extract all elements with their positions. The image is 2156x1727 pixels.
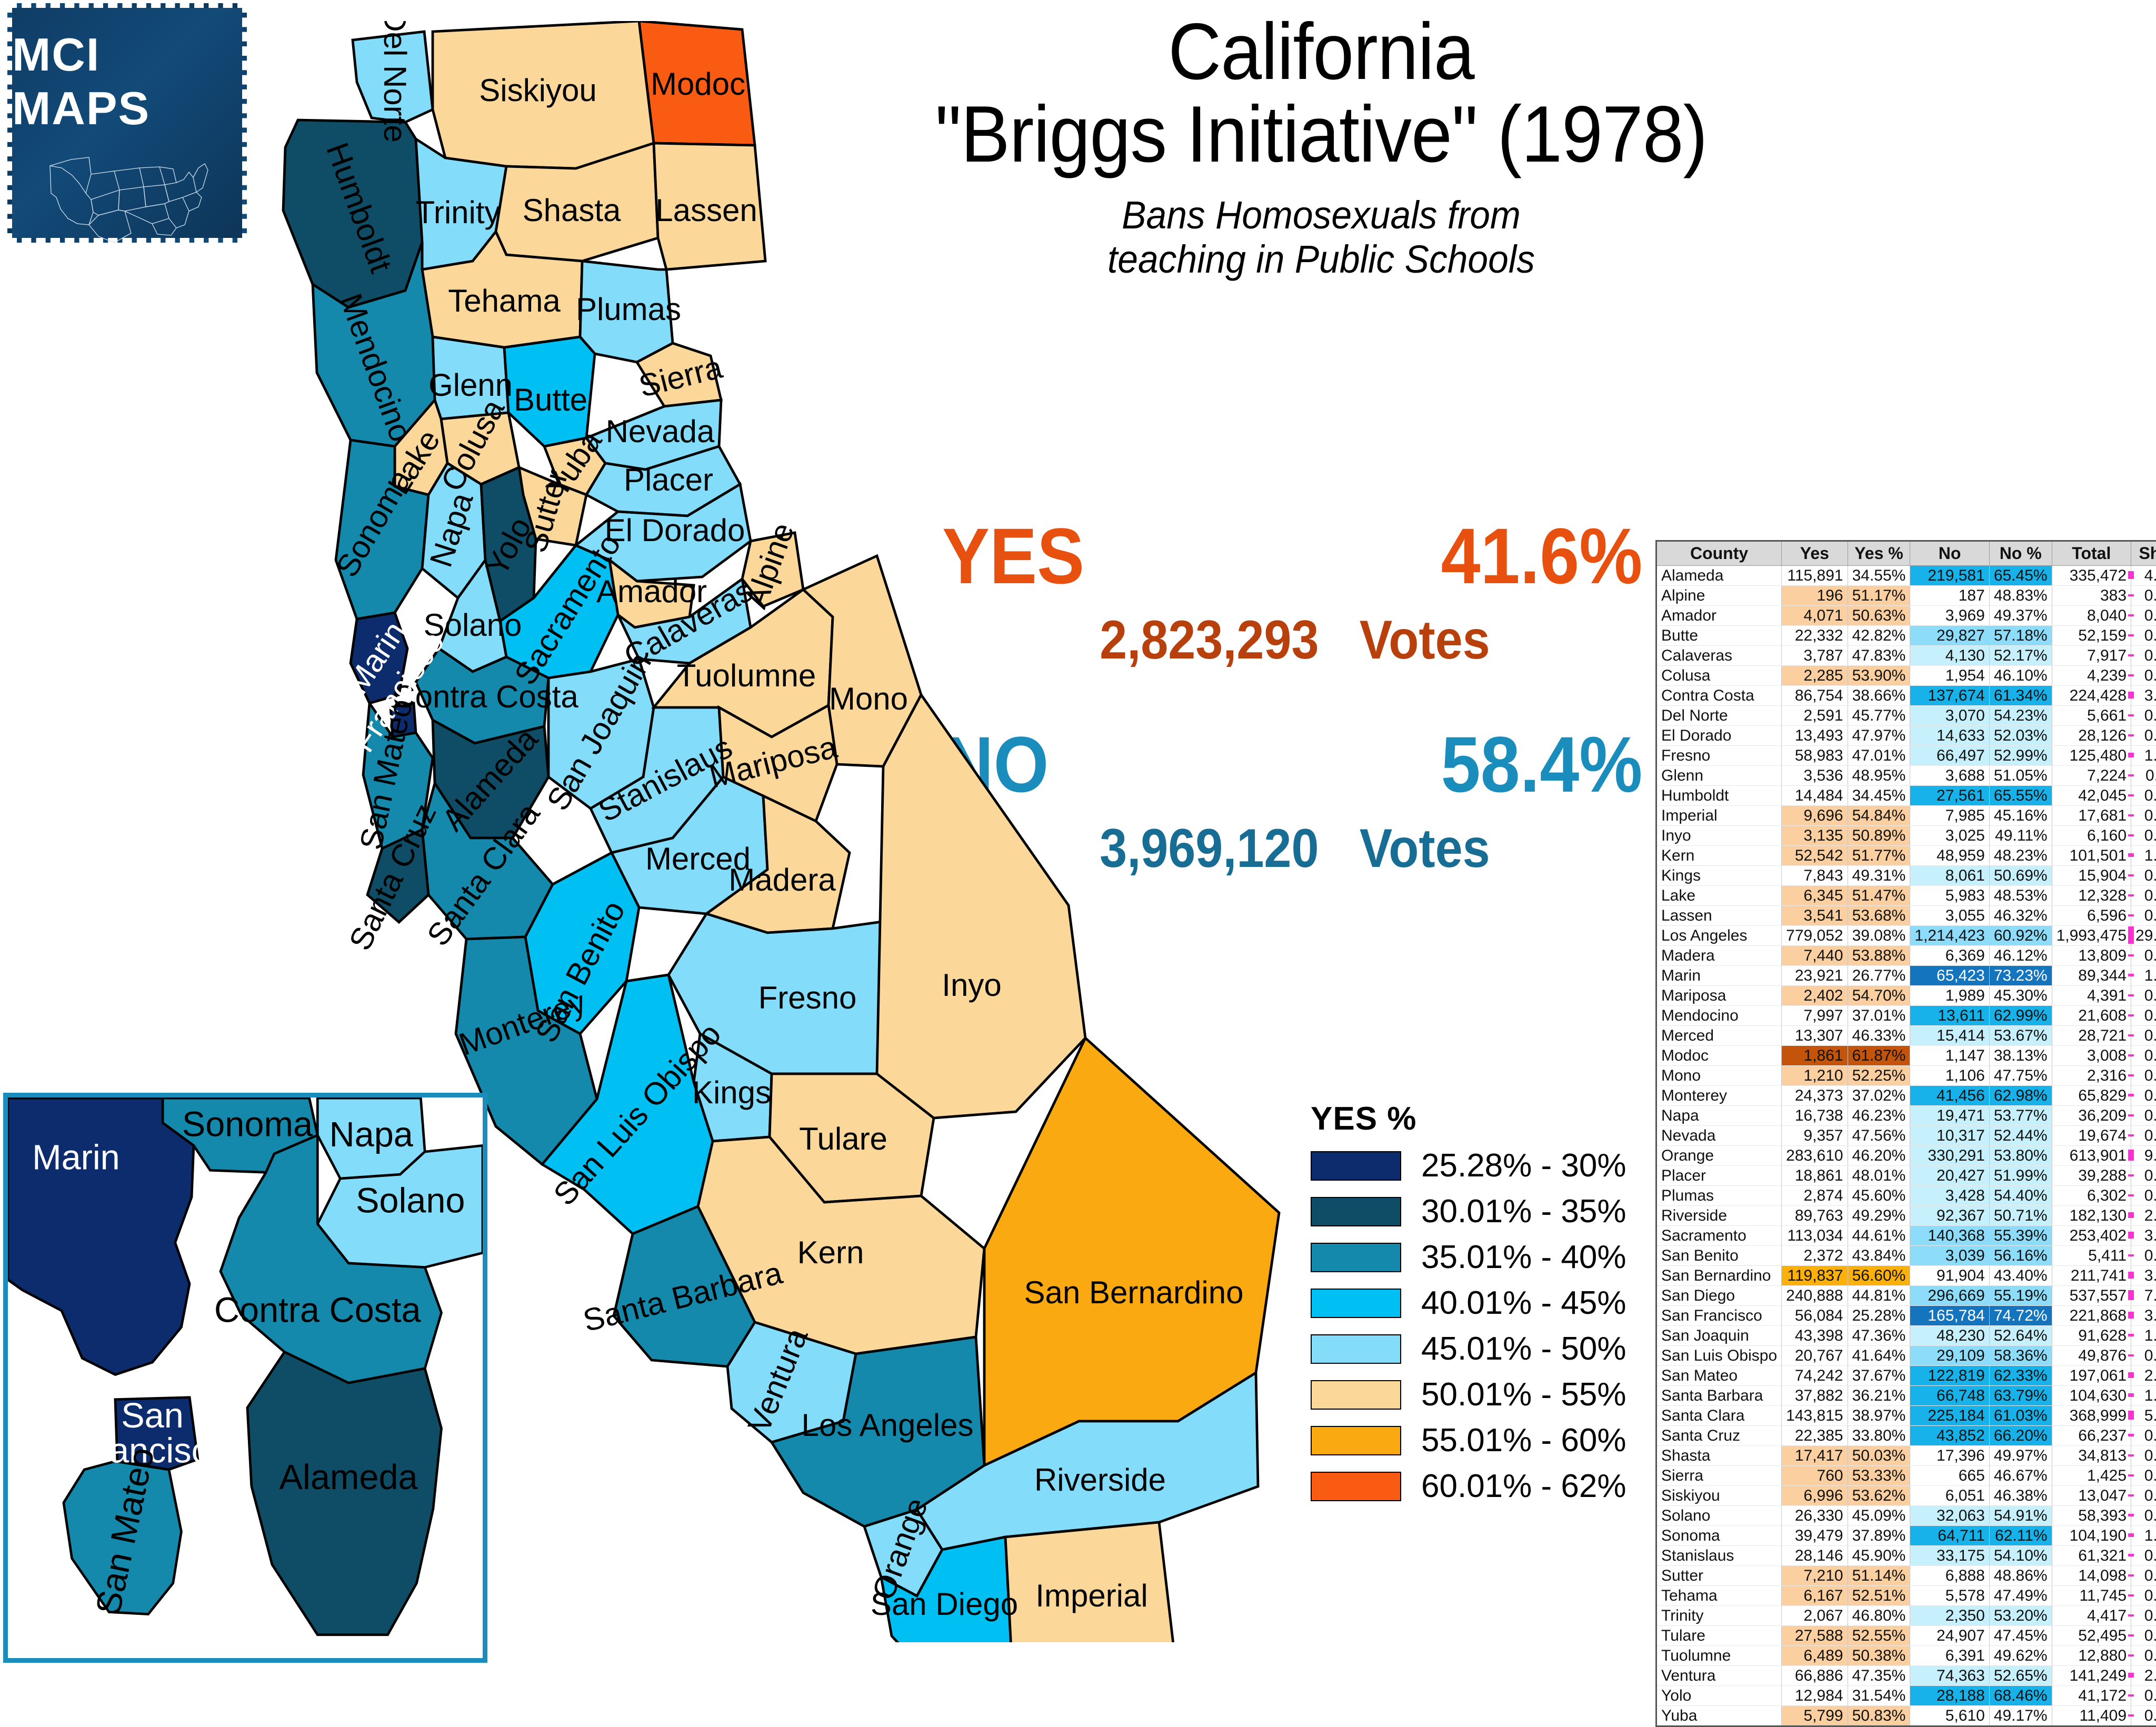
cell-num: 3,688: [1910, 766, 1989, 786]
cell-num: 43,852: [1910, 1426, 1989, 1446]
cell-pct: 47.45%: [1989, 1626, 2052, 1646]
cell-pct: 45.77%: [1848, 706, 1910, 726]
cell-num: 6,996: [1782, 1486, 1848, 1506]
cell-share: 0.12%: [2131, 646, 2156, 666]
cell-pct: 56.16%: [1989, 1246, 2052, 1266]
cell-tot: 12,880: [2052, 1646, 2131, 1666]
no-percent: 58.4%: [1441, 719, 1642, 810]
cell-num: 24,907: [1910, 1626, 1989, 1646]
cell-tot: 65,829: [2052, 1086, 2131, 1106]
cell-pct: 46.12%: [1989, 946, 2052, 966]
table-row: Colusa2,28553.90%1,95446.10%4,2390.06%: [1656, 666, 2156, 686]
share-bar: [2128, 1334, 2134, 1337]
table-row: Stanislaus28,14645.90%33,17554.10%61,321…: [1656, 1546, 2156, 1566]
cell-share: 0.86%: [2131, 1506, 2156, 1526]
legend-item-2: 35.01% - 40%: [1311, 1239, 1626, 1276]
county-inyo: [877, 695, 1085, 1118]
cell-num: 7,210: [1782, 1566, 1848, 1586]
cell-pct: 53.68%: [1848, 906, 1910, 926]
county-label-san-bernardino: San Bernardino: [1024, 1275, 1244, 1310]
county-label-inyo: Inyo: [942, 967, 1001, 1003]
cell-share: 0.41%: [2131, 726, 2156, 746]
share-bar: [2128, 1194, 2134, 1196]
cell-pct: 34.45%: [1848, 786, 1910, 806]
cell-pct: 26.77%: [1848, 966, 1910, 986]
cell-num: 66,497: [1910, 746, 1989, 766]
cell-pct: 62.99%: [1989, 1006, 2052, 1026]
share-bar: [2128, 1254, 2134, 1256]
cell-pct: 56.60%: [1848, 1266, 1910, 1286]
cell-num: 52,542: [1782, 846, 1848, 866]
cell-share: 0.20%: [2131, 946, 2156, 966]
cell-pct: 52.55%: [1848, 1626, 1910, 1646]
cell-num: 296,669: [1910, 1286, 1989, 1306]
cell-num: 7,997: [1782, 1006, 1848, 1026]
cell-cty-name: Contra Costa: [1656, 686, 1782, 706]
table-row: Ventura66,88647.35%74,36352.65%141,2492.…: [1656, 1666, 2156, 1686]
cell-num: 4,071: [1782, 606, 1848, 626]
cell-share: 0.17%: [2131, 1586, 2156, 1606]
table-row: Santa Barbara37,88236.21%66,74863.79%104…: [1656, 1386, 2156, 1406]
table-row: Del Norte2,59145.77%3,07054.23%5,6610.08…: [1656, 706, 2156, 726]
cell-pct: 52.51%: [1848, 1586, 1910, 1606]
cell-tot: 1,993,475: [2052, 926, 2131, 946]
cell-pct: 49.11%: [1989, 826, 2052, 846]
cell-num: 1,147: [1910, 1046, 1989, 1066]
cell-tot: 42,045: [2052, 786, 2131, 806]
share-bar: [2128, 1393, 2134, 1397]
legend-swatch-4: [1311, 1334, 1401, 1364]
cell-pct: 49.97%: [1989, 1446, 2052, 1466]
cell-pct: 48.01%: [1848, 1166, 1910, 1186]
cell-num: 1,954: [1910, 666, 1989, 686]
legend-item-1: 30.01% - 35%: [1311, 1193, 1626, 1230]
table-row: Amador4,07150.63%3,96949.37%8,0400.12%: [1656, 606, 2156, 626]
table-row: Inyo3,13550.89%3,02549.11%6,1600.09%: [1656, 826, 2156, 846]
cell-share: 0.06%: [2131, 986, 2156, 1006]
cell-num: 196: [1782, 586, 1848, 606]
cell-pct: 54.10%: [1989, 1546, 2052, 1566]
cell-cty-name: Madera: [1656, 946, 1782, 966]
col-header-no: No %: [1989, 541, 2052, 566]
cell-num: 283,610: [1782, 1146, 1848, 1166]
table-row: Monterey24,37337.02%41,45662.98%65,8290.…: [1656, 1086, 2156, 1106]
cell-pct: 43.84%: [1848, 1246, 1910, 1266]
cell-num: 1,861: [1782, 1046, 1848, 1066]
table-row: Madera7,44053.88%6,36946.12%13,8090.20%: [1656, 946, 2156, 966]
cell-cty-name: Mono: [1656, 1066, 1782, 1086]
cell-pct: 44.81%: [1848, 1286, 1910, 1306]
cell-num: 22,332: [1782, 626, 1848, 646]
cell-tot: 13,047: [2052, 1486, 2131, 1506]
cell-tot: 335,472: [2052, 566, 2131, 586]
cell-cty-name: Fresno: [1656, 746, 1782, 766]
cell-tot: 36,209: [2052, 1106, 2131, 1126]
cell-num: 20,767: [1782, 1346, 1848, 1366]
table-row: Santa Cruz22,38533.80%43,85266.20%66,237…: [1656, 1426, 2156, 1446]
cell-share: 0.09%: [2131, 826, 2156, 846]
cell-pct: 47.35%: [1848, 1666, 1910, 1686]
cell-pct: 74.72%: [1989, 1306, 2052, 1326]
cell-share: 0.12%: [2131, 606, 2156, 626]
county-label-placer: Placer: [624, 462, 713, 497]
cell-num: 2,067: [1782, 1606, 1848, 1626]
cell-num: 22,385: [1782, 1426, 1848, 1446]
cell-tot: 52,495: [2052, 1626, 2131, 1646]
legend-label-4: 45.01% - 50%: [1421, 1330, 1626, 1367]
cell-pct: 54.40%: [1989, 1186, 2052, 1206]
cell-tot: 383: [2052, 586, 2131, 606]
legend-label-1: 30.01% - 35%: [1421, 1193, 1626, 1230]
cell-share: 0.06%: [2131, 666, 2156, 686]
table-row: Tehama6,16752.51%5,57847.49%11,7450.17%: [1656, 1586, 2156, 1606]
logo-title: MCI MAPS: [12, 28, 242, 135]
cell-num: 24,373: [1782, 1086, 1848, 1106]
cell-pct: 53.33%: [1848, 1466, 1910, 1486]
cell-cty-name: Amador: [1656, 606, 1782, 626]
county-label-los-angeles: Los Angeles: [802, 1407, 974, 1443]
cell-pct: 46.10%: [1989, 666, 2052, 686]
table-row: Solano26,33045.09%32,06354.91%58,3930.86…: [1656, 1506, 2156, 1526]
cell-pct: 48.23%: [1989, 846, 2052, 866]
cell-num: 27,561: [1910, 786, 1989, 806]
cell-num: 6,369: [1910, 946, 1989, 966]
cell-pct: 45.09%: [1848, 1506, 1910, 1526]
table-row: Butte22,33242.82%29,82757.18%52,1590.77%: [1656, 626, 2156, 646]
cell-num: 29,109: [1910, 1346, 1989, 1366]
legend-label-2: 35.01% - 40%: [1421, 1239, 1626, 1276]
cell-cty-name: Alameda: [1656, 566, 1782, 586]
cell-pct: 65.55%: [1989, 786, 2052, 806]
cell-num: 37,882: [1782, 1386, 1848, 1406]
table-header-row: CountyYesYes %NoNo %TotalShare: [1656, 541, 2156, 566]
table-row: Marin23,92126.77%65,42373.23%89,3441.32%: [1656, 966, 2156, 986]
cell-tot: 197,061: [2052, 1366, 2131, 1386]
cell-pct: 63.79%: [1989, 1386, 2052, 1406]
legend-label-5: 50.01% - 55%: [1421, 1376, 1626, 1413]
county-label-glenn: Glenn: [428, 367, 513, 403]
cell-num: 3,428: [1910, 1186, 1989, 1206]
county-label-lassen: Lassen: [655, 193, 757, 228]
cell-share: 0.19%: [2131, 1486, 2156, 1506]
cell-share: 0.21%: [2131, 1566, 2156, 1586]
cell-num: 48,230: [1910, 1326, 1989, 1346]
county-label-mono: Mono: [829, 681, 908, 716]
cell-pct: 31.54%: [1848, 1686, 1910, 1706]
cell-tot: 58,393: [2052, 1506, 2131, 1526]
cell-num: 91,904: [1910, 1266, 1989, 1286]
cell-pct: 43.40%: [1989, 1266, 2052, 1286]
cell-share: 1.53%: [2131, 1526, 2156, 1546]
share-bar: [2128, 654, 2134, 656]
legend-item-7: 60.01% - 62%: [1311, 1468, 1626, 1505]
cell-pct: 52.03%: [1989, 726, 2052, 746]
cell-num: 3,541: [1782, 906, 1848, 926]
cell-num: 74,242: [1782, 1366, 1848, 1386]
cell-num: 5,983: [1910, 886, 1989, 906]
cell-pct: 50.83%: [1848, 1706, 1910, 1726]
legend-label-3: 40.01% - 45%: [1421, 1284, 1626, 1322]
col-header-county: County: [1656, 541, 1782, 566]
cell-pct: 52.64%: [1989, 1326, 2052, 1346]
cell-num: 10,317: [1910, 1126, 1989, 1146]
table-row: Kings7,84349.31%8,06150.69%15,9040.23%: [1656, 866, 2156, 886]
share-bar: [2128, 994, 2134, 996]
cell-tot: 6,160: [2052, 826, 2131, 846]
share-bar: [2128, 1014, 2134, 1016]
legend-swatch-0: [1311, 1151, 1401, 1181]
cell-pct: 53.90%: [1848, 666, 1910, 686]
cell-share: 0.53%: [2131, 1106, 2156, 1126]
cell-num: 8,061: [1910, 866, 1989, 886]
cell-share: 0.11%: [2131, 766, 2156, 786]
cell-tot: 49,876: [2052, 1346, 2131, 1366]
legend-item-0: 25.28% - 30%: [1311, 1147, 1626, 1184]
share-bar: [2128, 1474, 2134, 1476]
cell-pct: 46.67%: [1989, 1466, 2052, 1486]
cell-pct: 53.80%: [1989, 1146, 2052, 1166]
cell-pct: 48.95%: [1848, 766, 1910, 786]
cell-cty-name: Riverside: [1656, 1206, 1782, 1226]
cell-cty-name: Plumas: [1656, 1186, 1782, 1206]
county-label-trinity: Trinity: [415, 195, 500, 230]
table-row: Siskiyou6,99653.62%6,05146.38%13,0470.19…: [1656, 1486, 2156, 1506]
table-row: Lassen3,54153.68%3,05546.32%6,5960.10%: [1656, 906, 2156, 926]
cell-num: 2,372: [1782, 1246, 1848, 1266]
table-row: Plumas2,87445.60%3,42854.40%6,3020.09%: [1656, 1186, 2156, 1206]
table-row: Mendocino7,99737.01%13,61162.99%21,6080.…: [1656, 1006, 2156, 1026]
table-row: Humboldt14,48434.45%27,56165.55%42,0450.…: [1656, 786, 2156, 806]
legend-label-0: 25.28% - 30%: [1421, 1147, 1626, 1184]
share-bar: [2128, 954, 2134, 956]
share-bar: [2128, 1290, 2134, 1300]
share-bar: [2128, 1094, 2134, 1096]
cell-pct: 50.69%: [1989, 866, 2052, 886]
cell-cty-name: Kings: [1656, 866, 1782, 886]
cell-share: 0.62%: [2131, 786, 2156, 806]
share-bar: [2128, 1454, 2134, 1456]
no-votes-word: Votes: [1359, 817, 1490, 880]
cell-num: 1,214,423: [1910, 926, 1989, 946]
cell-share: 1.85%: [2131, 746, 2156, 766]
cell-tot: 61,321: [2052, 1546, 2131, 1566]
cell-num: 58,983: [1782, 746, 1848, 766]
cell-tot: 11,745: [2052, 1586, 2131, 1606]
cell-share: 1.49%: [2131, 846, 2156, 866]
table-row: Merced13,30746.33%15,41453.67%28,7210.42…: [1656, 1026, 2156, 1046]
cell-cty-name: Alpine: [1656, 586, 1782, 606]
us-map-outline-icon: [41, 145, 214, 253]
cell-num: 9,696: [1782, 806, 1848, 826]
cell-tot: 104,190: [2052, 1526, 2131, 1546]
cell-num: 4,130: [1910, 646, 1989, 666]
share-bar: [2128, 914, 2134, 916]
table-row: Los Angeles779,05239.08%1,214,42360.92%1…: [1656, 926, 2156, 946]
share-bar: [2128, 634, 2134, 636]
cell-num: 140,368: [1910, 1226, 1989, 1246]
cell-num: 74,363: [1910, 1666, 1989, 1686]
county-label-fresno: Fresno: [758, 980, 857, 1015]
cell-tot: 253,402: [2052, 1226, 2131, 1246]
cell-cty-name: Tuolumne: [1656, 1646, 1782, 1666]
cell-num: 6,167: [1782, 1586, 1848, 1606]
cell-share: 2.08%: [2131, 1666, 2156, 1686]
table-row: Trinity2,06746.80%2,35053.20%4,4170.07%: [1656, 1606, 2156, 1626]
table-body: Alameda115,89134.55%219,58165.45%335,472…: [1656, 566, 2156, 1726]
cell-pct: 50.71%: [1989, 1206, 2052, 1226]
cell-num: 66,886: [1782, 1666, 1848, 1686]
cell-num: 225,184: [1910, 1406, 1989, 1426]
cell-cty-name: Mariposa: [1656, 986, 1782, 1006]
legend-swatch-7: [1311, 1472, 1401, 1501]
cell-num: 28,188: [1910, 1686, 1989, 1706]
cell-share: 0.77%: [2131, 626, 2156, 646]
cell-pct: 52.65%: [1989, 1666, 2052, 1686]
table-row: San Diego240,88844.81%296,66955.19%537,5…: [1656, 1286, 2156, 1306]
cell-cty-name: Santa Cruz: [1656, 1426, 1782, 1446]
cell-num: 6,345: [1782, 886, 1848, 906]
share-bar: [2128, 894, 2134, 896]
cell-num: 27,588: [1782, 1626, 1848, 1646]
col-header-yes: Yes: [1782, 541, 1848, 566]
cell-pct: 45.16%: [1989, 806, 2052, 826]
cell-pct: 73.23%: [1989, 966, 2052, 986]
county-label-madera: Madera: [728, 862, 836, 897]
logo-url: { www.mcimaps.com }: [36, 260, 219, 279]
cell-pct: 65.45%: [1989, 566, 2052, 586]
share-bar: [2128, 1372, 2134, 1379]
cell-cty-name: Trinity: [1656, 1606, 1782, 1626]
cell-tot: 91,628: [2052, 1326, 2131, 1346]
share-bar: [2128, 1174, 2134, 1176]
cell-tot: 3,008: [2052, 1046, 2131, 1066]
cell-cty-name: Santa Clara: [1656, 1406, 1782, 1426]
cell-share: 0.04%: [2131, 1046, 2156, 1066]
legend-swatch-5: [1311, 1380, 1401, 1410]
inset-county-label-marin: Marin: [32, 1138, 120, 1177]
cell-cty-name: Marin: [1656, 966, 1782, 986]
share-bar: [2128, 674, 2134, 676]
cell-share: 3.12%: [2131, 1266, 2156, 1286]
mci-maps-logo: MCI MAPS { www.mcimaps.c: [7, 3, 247, 243]
cell-num: 26,330: [1782, 1506, 1848, 1526]
cell-pct: 47.56%: [1848, 1126, 1910, 1146]
cell-share: 0.90%: [2131, 1546, 2156, 1566]
cell-pct: 54.23%: [1989, 706, 2052, 726]
table-row: Fresno58,98347.01%66,49752.99%125,4801.8…: [1656, 746, 2156, 766]
cell-num: 330,291: [1910, 1146, 1989, 1166]
cell-pct: 52.99%: [1989, 746, 2052, 766]
table-row: Riverside89,76349.29%92,36750.71%182,130…: [1656, 1206, 2156, 1226]
share-bar: [2128, 794, 2134, 796]
share-bar: [2128, 1134, 2134, 1136]
cell-pct: 50.03%: [1848, 1446, 1910, 1466]
cell-share: 0.07%: [2131, 1606, 2156, 1626]
cell-pct: 37.02%: [1848, 1086, 1910, 1106]
table-row: Kern52,54251.77%48,95948.23%101,5011.49%: [1656, 846, 2156, 866]
county-label-tuolumne: Tuolumne: [677, 658, 816, 693]
cell-pct: 47.83%: [1848, 646, 1910, 666]
cell-num: 3,969: [1910, 606, 1989, 626]
cell-num: 6,051: [1910, 1486, 1989, 1506]
share-bar: [2128, 1654, 2134, 1656]
cell-pct: 47.36%: [1848, 1326, 1910, 1346]
cell-num: 13,307: [1782, 1026, 1848, 1046]
cell-tot: 4,417: [2052, 1606, 2131, 1626]
cell-num: 5,799: [1782, 1706, 1848, 1726]
cell-num: 56,084: [1782, 1306, 1848, 1326]
col-header-share: Share: [2131, 541, 2156, 566]
cell-num: 43,398: [1782, 1326, 1848, 1346]
cell-cty-name: Del Norte: [1656, 706, 1782, 726]
county-label-plumas: Plumas: [576, 292, 681, 327]
table-row: Sacramento113,03444.61%140,36855.39%253,…: [1656, 1226, 2156, 1246]
legend-item-3: 40.01% - 45%: [1311, 1284, 1626, 1322]
cell-tot: 39,288: [2052, 1166, 2131, 1186]
cell-cty-name: Solano: [1656, 1506, 1782, 1526]
cell-tot: 5,411: [2052, 1246, 2131, 1266]
cell-pct: 57.18%: [1989, 626, 2052, 646]
county-label-nevada: Nevada: [606, 414, 715, 449]
cell-pct: 53.67%: [1989, 1026, 2052, 1046]
table-row: San Luis Obispo20,76741.64%29,10958.36%4…: [1656, 1346, 2156, 1366]
cell-pct: 68.46%: [1989, 1686, 2052, 1706]
cell-pct: 55.19%: [1989, 1286, 2052, 1306]
cell-pct: 39.08%: [1848, 926, 1910, 946]
cell-num: 7,985: [1910, 806, 1989, 826]
cell-tot: 17,681: [2052, 806, 2131, 826]
cell-pct: 61.87%: [1848, 1046, 1910, 1066]
cell-pct: 47.01%: [1848, 746, 1910, 766]
cell-share: 0.29%: [2131, 1126, 2156, 1146]
cell-share: 0.97%: [2131, 1086, 2156, 1106]
cell-tot: 28,721: [2052, 1026, 2131, 1046]
cell-num: 16,738: [1782, 1106, 1848, 1126]
cell-cty-name: Stanislaus: [1656, 1546, 1782, 1566]
legend-item-6: 55.01% - 60%: [1311, 1422, 1626, 1459]
share-bar: [2128, 853, 2134, 857]
county-label-modoc: Modoc: [651, 66, 745, 102]
cell-num: 65,423: [1910, 966, 1989, 986]
share-bar: [2128, 1212, 2134, 1217]
cell-cty-name: San Luis Obispo: [1656, 1346, 1782, 1366]
cell-cty-name: San Joaquin: [1656, 1326, 1782, 1346]
share-bar: [2128, 1514, 2134, 1516]
share-bar: [2128, 753, 2134, 757]
cell-pct: 45.60%: [1848, 1186, 1910, 1206]
cell-tot: 5,661: [2052, 706, 2131, 726]
cell-num: 5,578: [1910, 1586, 1989, 1606]
share-bar: [2128, 1114, 2134, 1116]
cell-num: 39,479: [1782, 1526, 1848, 1546]
cell-cty-name: Orange: [1656, 1146, 1782, 1166]
cell-share: 1.35%: [2131, 1326, 2156, 1346]
cell-pct: 62.11%: [1989, 1526, 2052, 1546]
table-row: Sierra76053.33%66546.67%1,4250.02%: [1656, 1466, 2156, 1486]
table-row: Yuba5,79950.83%5,61049.17%11,4090.17%: [1656, 1706, 2156, 1726]
cell-pct: 50.38%: [1848, 1646, 1910, 1666]
cell-tot: 211,741: [2052, 1266, 2131, 1286]
table-row: Placer18,86148.01%20,42751.99%39,2880.58…: [1656, 1166, 2156, 1186]
cell-num: 2,402: [1782, 986, 1848, 1006]
county-label-shasta: Shasta: [523, 193, 621, 228]
cell-num: 3,025: [1910, 826, 1989, 846]
table-row: Lake6,34551.47%5,98348.53%12,3280.18%: [1656, 886, 2156, 906]
cell-pct: 53.77%: [1989, 1106, 2052, 1126]
cell-num: 3,536: [1782, 766, 1848, 786]
county-label-kings: Kings: [692, 1075, 771, 1110]
cell-pct: 46.23%: [1848, 1106, 1910, 1126]
